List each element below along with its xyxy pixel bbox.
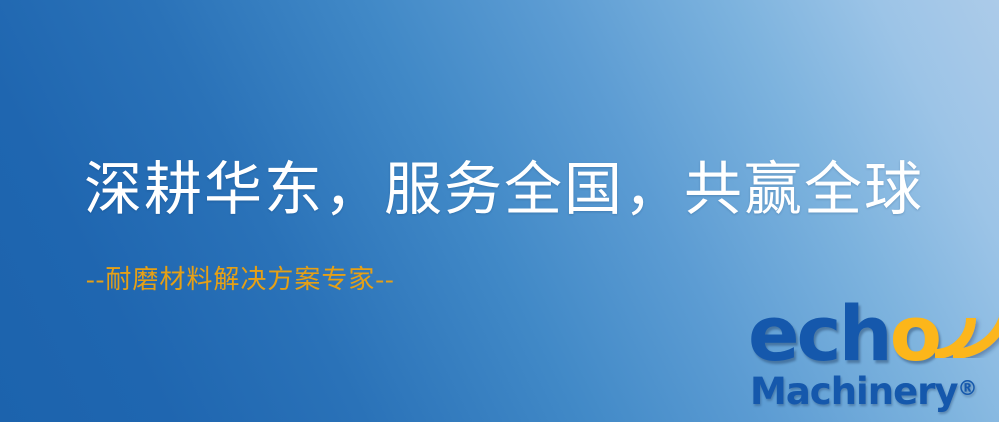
banner-subtitle: --耐磨材料解决方案专家--: [86, 264, 395, 296]
logo-wordmark: echo: [748, 296, 939, 372]
signal-waves-icon: [925, 292, 999, 358]
logo-subword-text: Machinery: [750, 370, 958, 413]
logo-wordmark-prefix: ech: [748, 289, 890, 378]
logo-subword: Machinery®: [750, 368, 978, 412]
hero-banner: 深耕华东，服务全国，共赢全球 --耐磨材料解决方案专家-- echo Machi…: [0, 0, 999, 422]
company-logo[interactable]: echo Machinery®: [742, 296, 999, 422]
registered-trademark-icon: ®: [958, 376, 978, 400]
banner-headline: 深耕华东，服务全国，共赢全球: [84, 155, 924, 225]
